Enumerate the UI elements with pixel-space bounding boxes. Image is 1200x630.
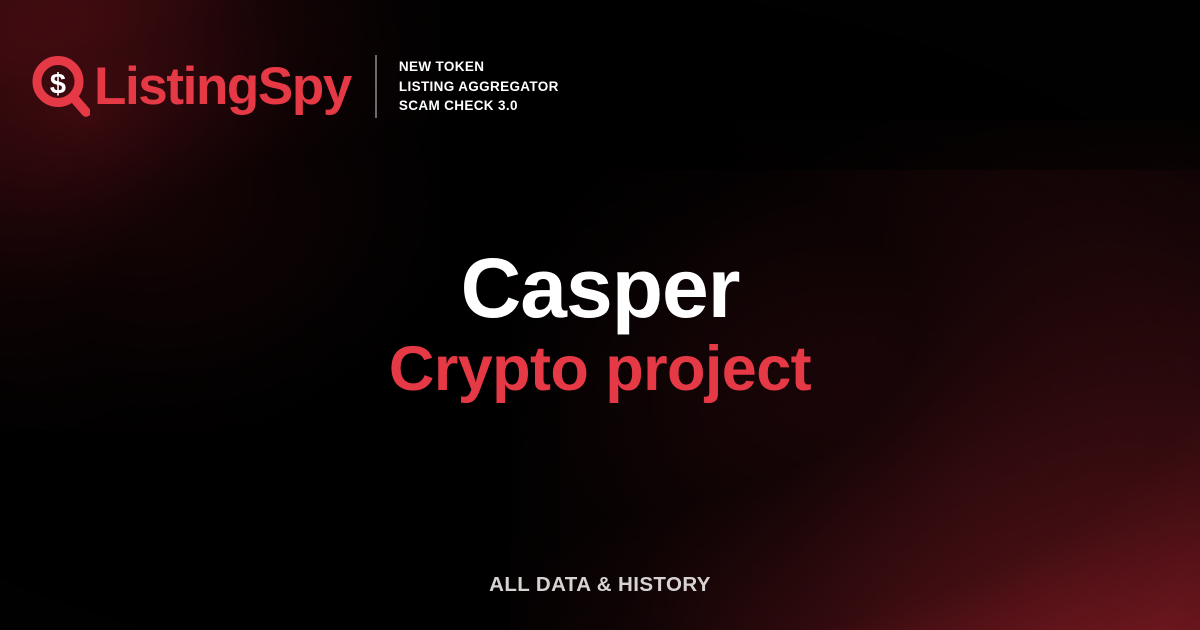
page-subtitle: Crypto project [0,336,1200,402]
header-divider [375,55,377,118]
tagline-line-1: NEW TOKEN [399,57,559,77]
brand-header: $ ListingSpy NEW TOKEN LISTING AGGREGATO… [32,55,559,118]
tagline-line-2: LISTING AGGREGATOR [399,77,559,97]
page-title: Casper [0,246,1200,332]
hero-block: Casper Crypto project [0,246,1200,402]
magnifier-dollar-icon: $ [32,56,90,118]
brand-wordmark: ListingSpy [94,60,351,113]
share-card: $ ListingSpy NEW TOKEN LISTING AGGREGATO… [0,0,1200,630]
tagline-line-3: SCAM CHECK 3.0 [399,96,559,116]
svg-text:$: $ [50,68,66,100]
brand-tagline: NEW TOKEN LISTING AGGREGATOR SCAM CHECK … [399,57,559,117]
footer-caption: ALL DATA & HISTORY [0,573,1200,597]
